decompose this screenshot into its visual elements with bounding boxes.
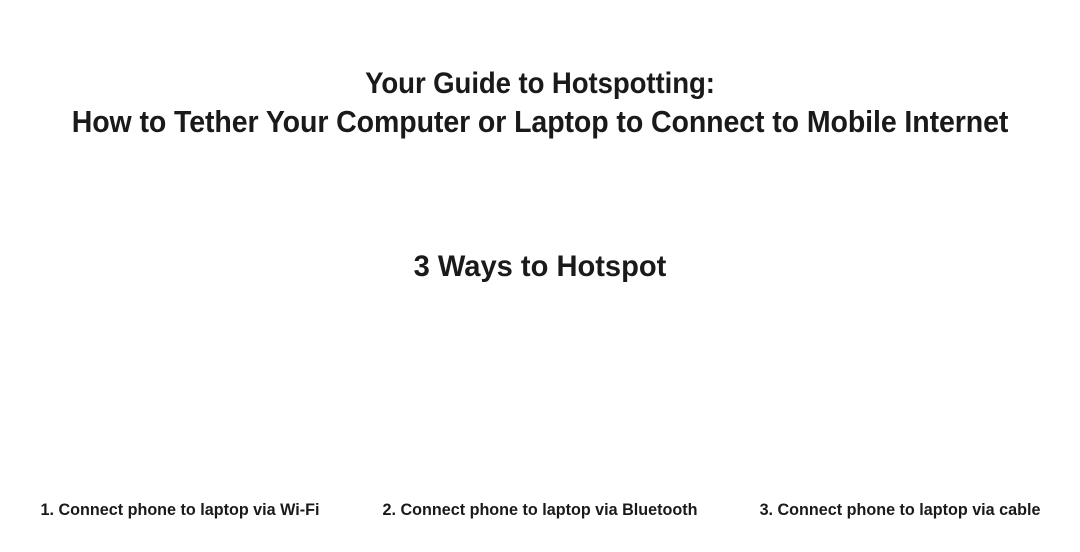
list-item: 3. Connect phone to laptop via cable xyxy=(720,288,1080,552)
step-image-cable xyxy=(720,288,1080,499)
step-caption-bluetooth: 2. Connect phone to laptop via Bluetooth xyxy=(369,499,711,552)
step-image-bluetooth xyxy=(360,288,720,499)
page-title: Your Guide to Hotspotting: How to Tether… xyxy=(43,65,1037,141)
step-caption-cable: 3. Connect phone to laptop via cable xyxy=(729,499,1071,552)
article-page: Your Guide to Hotspotting: How to Tether… xyxy=(0,0,1080,552)
page-title-line-1: Your Guide to Hotspotting: xyxy=(43,65,1037,103)
list-item: 1. Connect phone to laptop via Wi-Fi xyxy=(0,288,360,552)
page-title-line-2: How to Tether Your Computer or Laptop to… xyxy=(43,103,1037,141)
step-image-wifi xyxy=(0,288,360,499)
step-caption-wifi: 1. Connect phone to laptop via Wi-Fi xyxy=(9,499,351,552)
hotspot-methods-list: 1. Connect phone to laptop via Wi-Fi 2. … xyxy=(0,288,1080,552)
section-heading: 3 Ways to Hotspot xyxy=(16,247,1064,287)
list-item: 2. Connect phone to laptop via Bluetooth xyxy=(360,288,720,552)
